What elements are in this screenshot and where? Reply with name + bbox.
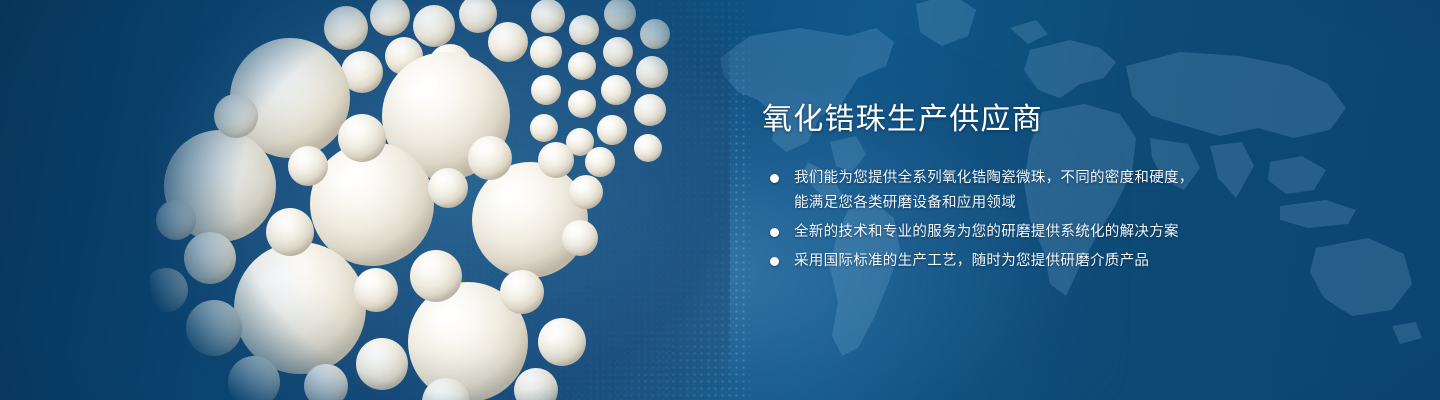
bullet-dot-icon — [770, 174, 779, 183]
list-item: 全新的技术和专业的服务为您的研磨提供系统化的解决方案 — [762, 220, 1232, 245]
bullet-line: 我们能为您提供全系列氧化锆陶瓷微珠，不同的密度和硬度， — [794, 166, 1232, 191]
bullet-dot-icon — [770, 257, 779, 266]
bullet-line: 全新的技术和专业的服务为您的研磨提供系统化的解决方案 — [794, 220, 1232, 245]
banner-copy: 氧化锆珠生产供应商 我们能为您提供全系列氧化锆陶瓷微珠，不同的密度和硬度， 能满… — [762, 104, 1232, 274]
list-item: 我们能为您提供全系列氧化锆陶瓷微珠，不同的密度和硬度， 能满足您各类研磨设备和应… — [762, 166, 1232, 216]
list-item: 采用国际标准的生产工艺，随时为您提供研磨介质产品 — [762, 249, 1232, 274]
feature-list: 我们能为您提供全系列氧化锆陶瓷微珠，不同的密度和硬度， 能满足您各类研磨设备和应… — [762, 166, 1232, 274]
hero-banner: 氧化锆珠生产供应商 我们能为您提供全系列氧化锆陶瓷微珠，不同的密度和硬度， 能满… — [0, 0, 1440, 400]
bullet-line: 能满足您各类研磨设备和应用领域 — [794, 191, 1232, 216]
banner-headline: 氧化锆珠生产供应商 — [762, 104, 1232, 136]
bullet-line: 采用国际标准的生产工艺，随时为您提供研磨介质产品 — [794, 249, 1232, 274]
bullet-dot-icon — [770, 228, 779, 237]
